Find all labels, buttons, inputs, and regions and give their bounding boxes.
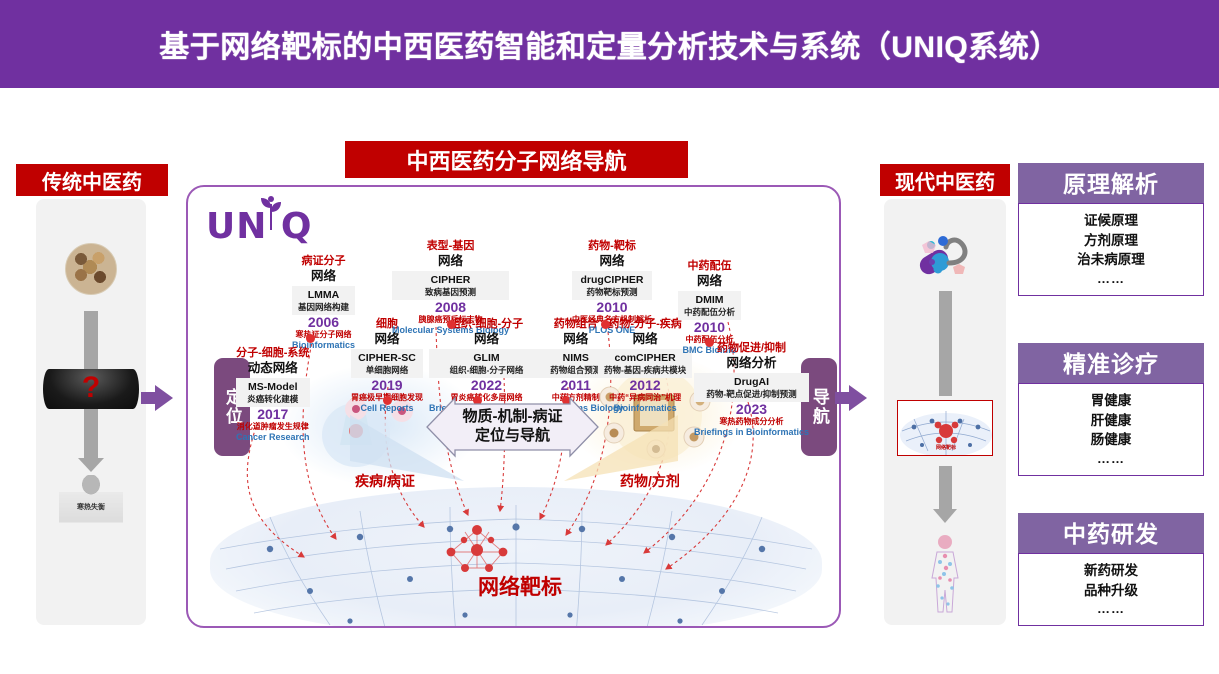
network-preview-svg: 网络靶标 (898, 401, 993, 456)
arrow-left-to-center-icon (155, 385, 173, 411)
feature-ellipsis: …… (1019, 600, 1203, 619)
node-name: GLIM (435, 352, 538, 365)
node-name: LMMA (298, 289, 349, 302)
node-card-drugai[interactable]: 药物促进/抑制 网络分析 DrugAI 药物-靶点促进/抑制预测 2023 寒热… (694, 342, 809, 439)
node-year: 2006 (292, 315, 355, 330)
node-desc: 致病基因预测 (398, 287, 503, 298)
node-desc: 基因网络构建 (298, 302, 349, 313)
capsule-molecule-icon (913, 229, 977, 289)
node-desc: 药物靶标预测 (578, 287, 646, 298)
node-journal: Briefings in Bioinformatics (694, 427, 809, 438)
node-year: 2023 (694, 402, 809, 417)
feature-title: 精准诊疗 (1018, 343, 1204, 383)
feature-block-diagnosis[interactable]: 精准诊疗 胃健康 肝健康 肠健康 …… (1018, 343, 1204, 476)
right-section-banner: 现代中医药 (880, 164, 1010, 196)
network-target-preview-box: 网络靶标 (897, 400, 993, 456)
black-box-shape: ? (43, 369, 139, 409)
node-detail-card: CIPHER-SC 单细胞网络 (351, 349, 423, 378)
red-cluster-svg (431, 512, 523, 578)
center-section-banner: 中西医药分子网络导航 (345, 141, 688, 178)
node-detail-card: DMIM 中药配伍分析 (678, 291, 741, 320)
down-arrow-lower (84, 409, 98, 459)
node-name: CIPHER-SC (357, 352, 417, 365)
node-year: 2019 (351, 378, 423, 393)
feature-title: 中药研发 (1018, 513, 1204, 553)
node-desc: 中药配伍分析 (684, 307, 735, 318)
node-year: 2008 (392, 300, 509, 315)
node-category2: 动态网络 (236, 361, 310, 376)
network-target-inline-label: 网络靶标 (936, 444, 956, 451)
chevron-label: 物质-机制-病证 定位与导航 (425, 396, 600, 458)
network-target-cluster-graphic (431, 512, 523, 578)
node-desc: 药物-基因-疾病共模块 (604, 365, 686, 376)
node-year: 2012 (598, 378, 692, 393)
node-year: 2010 (678, 320, 741, 335)
down-connector-lower (939, 466, 952, 510)
left-section-banner: 传统中医药 (16, 164, 168, 196)
sprout-leaf-icon (258, 196, 284, 230)
feature-item: 治未病原理 (1019, 250, 1203, 270)
node-category: 表型-基因 (392, 240, 509, 254)
node-card-lmma[interactable]: 病证分子 网络 LMMA 基因网络构建 2006 寒热证分子网络 Bioinfo… (292, 255, 355, 352)
node-desc: 药物-靶点促进/抑制预测 (700, 389, 803, 400)
node-category2: 网络 (292, 269, 355, 284)
node-anchor-dot (601, 320, 610, 329)
node-category2: 网络 (429, 332, 544, 347)
down-connector-upper (939, 291, 952, 396)
network-target-label: 网络靶标 (478, 571, 562, 601)
traditional-tcm-panel: ? 寒热失衡 (36, 199, 146, 625)
node-detail-card: DrugAI 药物-靶点促进/抑制预测 (694, 373, 809, 402)
feature-item: 新药研发 (1019, 561, 1203, 581)
node-application: 寒热药物成分分析 (694, 417, 809, 427)
chevron-line-1: 物质-机制-病证 (463, 408, 563, 427)
header-bar: 基于网络靶标的中西医药智能和定量分析技术与系统（UNIQ系统） (0, 0, 1219, 88)
feature-item: 胃健康 (1019, 391, 1203, 411)
feature-items: 新药研发 品种升级 …… (1018, 553, 1204, 626)
node-application: 消化道肿瘤发生规律 (236, 422, 310, 432)
feature-ellipsis: …… (1019, 450, 1203, 469)
node-journal: Cancer Research (236, 432, 310, 443)
node-category: 分子-细胞-系统 (236, 347, 310, 361)
node-application: 中药“异病同治”机理 (598, 393, 692, 403)
node-detail-card: LMMA 基因网络构建 (292, 286, 355, 315)
node-category2: 网络分析 (694, 356, 809, 371)
node-desc: 单细胞网络 (357, 365, 417, 376)
node-journal: Cell Reports (351, 403, 423, 414)
node-category2: 网络 (572, 254, 652, 269)
node-name: CIPHER (398, 274, 503, 287)
disease-label: 疾病/病证 (355, 471, 415, 491)
node-anchor-dot (383, 396, 392, 405)
substance-mechanism-chevron: 物质-机制-病证 定位与导航 (425, 396, 600, 458)
feature-title: 原理解析 (1018, 163, 1204, 203)
herbs-photo-icon (65, 243, 117, 295)
node-detail-card: CIPHER 致病基因预测 (392, 271, 509, 300)
feature-block-rd[interactable]: 中药研发 新药研发 品种升级 …… (1018, 513, 1204, 626)
node-name: DrugAI (700, 376, 803, 389)
node-category: 病证分子 (292, 255, 355, 269)
feature-item: 肝健康 (1019, 411, 1203, 431)
feature-block-principle[interactable]: 原理解析 证候原理 方剂原理 治未病原理 …… (1018, 163, 1204, 296)
healthy-body-network-icon (910, 532, 980, 618)
page-title: 基于网络靶标的中西医药智能和定量分析技术与系统（UNIQ系统） (159, 22, 1060, 66)
node-year: 2010 (572, 300, 652, 315)
node-name: comCIPHER (604, 352, 686, 365)
question-mark-icon: ? (82, 373, 100, 403)
node-name: drugCIPHER (578, 274, 646, 287)
node-anchor-dot (447, 320, 456, 329)
node-category: 药物-靶标 (572, 240, 652, 254)
node-detail-card: MS-Model 炎癌转化建模 (236, 378, 310, 407)
feature-item: 证候原理 (1019, 211, 1203, 231)
node-application: 寒热证分子网络 (292, 330, 355, 340)
feature-item: 方剂原理 (1019, 231, 1203, 251)
feature-item: 肠健康 (1019, 430, 1203, 450)
node-category: 中药配伍 (678, 260, 741, 274)
node-detail-card: GLIM 组织-细胞-分子网络 (429, 349, 544, 378)
node-category2: 网络 (392, 254, 509, 269)
node-desc: 组织-细胞-分子网络 (435, 365, 538, 376)
feature-ellipsis: …… (1019, 270, 1203, 289)
node-detail-card: drugCIPHER 药物靶标预测 (572, 271, 652, 300)
node-anchor-dot (306, 334, 315, 343)
node-card-ms-model[interactable]: 分子-细胞-系统 动态网络 MS-Model 炎癌转化建模 2017 消化道肿瘤… (236, 347, 310, 444)
node-year: 2017 (236, 407, 310, 422)
arrow-center-to-right-icon (849, 385, 867, 411)
node-desc: 炎癌转化建模 (242, 394, 304, 405)
node-name: MS-Model (242, 381, 304, 394)
feature-items: 证候原理 方剂原理 治未病原理 …… (1018, 203, 1204, 296)
imbalance-label: 寒热失衡 (77, 502, 105, 512)
down-arrow-upper (84, 311, 98, 369)
chevron-line-2: 定位与导航 (475, 427, 550, 446)
feature-item: 品种升级 (1019, 581, 1203, 601)
node-anchor-dot (705, 338, 714, 347)
feature-items: 胃健康 肝健康 肠健康 …… (1018, 383, 1204, 476)
node-name: DMIM (684, 294, 735, 307)
human-figure-wordcloud-icon: 寒热失衡 (59, 475, 123, 561)
node-journal: Bioinformatics (598, 403, 692, 414)
human-silhouette-icon (59, 475, 123, 561)
node-category2: 网络 (678, 274, 741, 289)
modern-tcm-panel: 网络靶标 (884, 199, 1006, 625)
drug-label: 药物/方剂 (620, 471, 680, 491)
node-year: 2022 (429, 378, 544, 393)
